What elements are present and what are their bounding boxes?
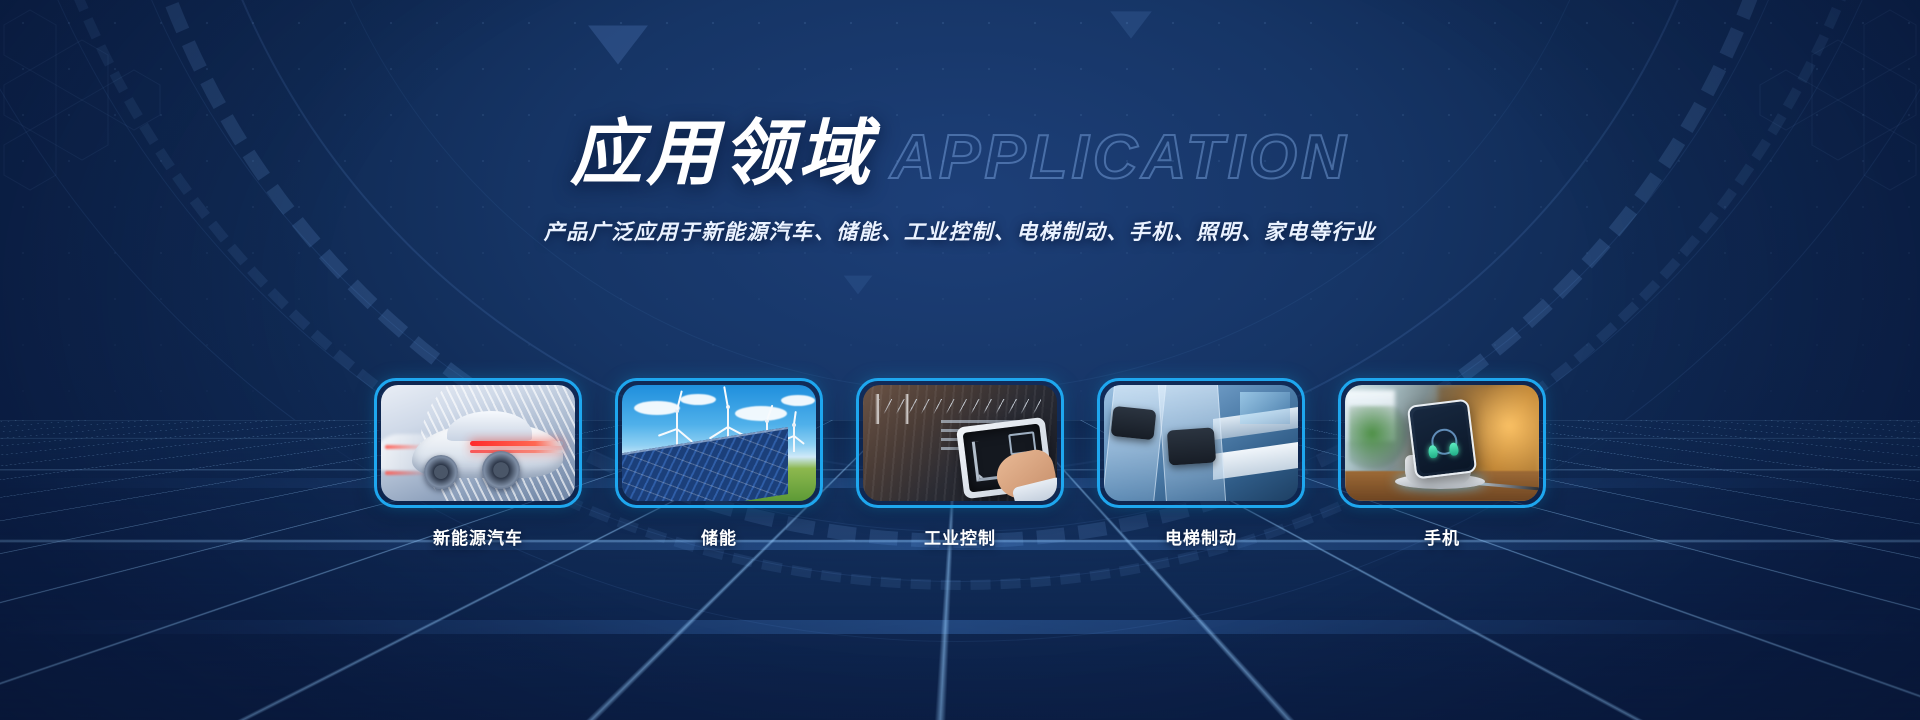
application-card[interactable]: 工业控制 <box>856 378 1064 549</box>
card-frame[interactable] <box>374 378 582 508</box>
application-card[interactable]: 储能 <box>615 378 823 549</box>
triangle-decoration <box>844 276 873 295</box>
card-frame[interactable] <box>856 378 1064 508</box>
card-thumbnail-energy-storage <box>622 385 816 501</box>
card-label: 新能源汽车 <box>433 524 523 549</box>
card-thumbnail-industrial-control <box>863 385 1057 501</box>
card-label: 储能 <box>701 524 737 549</box>
card-frame[interactable] <box>615 378 823 508</box>
application-card[interactable]: 新能源汽车 <box>374 378 582 549</box>
card-label: 电梯制动 <box>1165 524 1237 549</box>
card-thumbnail-elevator-brake <box>1104 385 1298 501</box>
title-row: 应用领域 APPLICATION <box>570 118 1350 190</box>
page-title: 应用领域 <box>570 118 874 190</box>
banner-subtitle: 产品广泛应用于新能源汽车、储能、工业控制、电梯制动、手机、照明、家电等行业 <box>0 216 1920 246</box>
card-thumbnail-new-energy-car <box>381 385 575 501</box>
card-frame[interactable] <box>1338 378 1546 508</box>
card-thumbnail-mobile-phone <box>1345 385 1539 501</box>
card-frame[interactable] <box>1097 378 1305 508</box>
card-label: 手机 <box>1424 524 1460 549</box>
triangle-decoration <box>1110 11 1152 38</box>
banner-heading: 应用领域 APPLICATION 产品广泛应用于新能源汽车、储能、工业控制、电梯… <box>0 118 1920 246</box>
application-banner: 应用领域 APPLICATION 产品广泛应用于新能源汽车、储能、工业控制、电梯… <box>0 0 1920 720</box>
application-card[interactable]: 手机 <box>1338 378 1546 549</box>
application-card[interactable]: 电梯制动 <box>1097 378 1305 549</box>
card-label: 工业控制 <box>924 524 996 549</box>
page-title-english: APPLICATION <box>890 127 1350 189</box>
application-card-list: 新能源汽车 <box>0 378 1920 549</box>
triangle-decoration <box>588 25 648 64</box>
